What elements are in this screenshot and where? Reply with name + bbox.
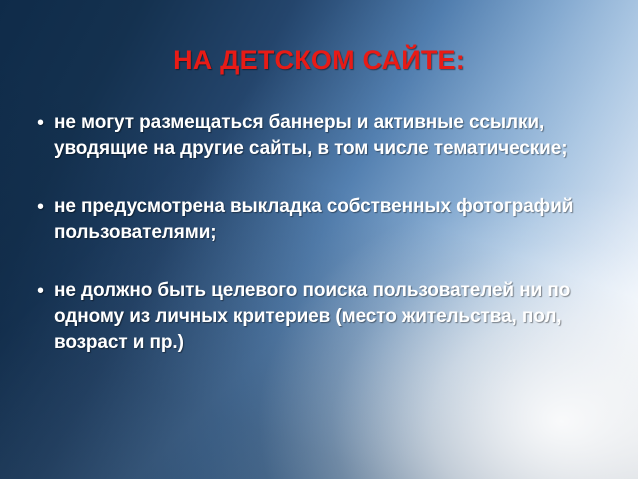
bullet-point-icon: •	[32, 110, 54, 136]
presentation-slide: НА ДЕТСКОМ САЙТЕ: • не могут размещаться…	[0, 0, 638, 479]
slide-title: НА ДЕТСКОМ САЙТЕ:	[0, 45, 638, 76]
list-item: • не могут размещаться баннеры и активны…	[32, 110, 607, 162]
bullet-item-text: не могут размещаться баннеры и активные …	[54, 110, 607, 162]
slide-content: НА ДЕТСКОМ САЙТЕ: • не могут размещаться…	[0, 0, 638, 479]
bullet-point-icon: •	[32, 194, 54, 220]
bullet-list: • не могут размещаться баннеры и активны…	[32, 110, 607, 356]
list-item: • не предусмотрена выкладка собственных …	[32, 194, 607, 246]
list-item: • не должно быть целевого поиска пользов…	[32, 278, 607, 356]
bullet-item-text: не должно быть целевого поиска пользоват…	[54, 278, 607, 356]
bullet-item-text: не предусмотрена выкладка собственных фо…	[54, 194, 607, 246]
bullet-point-icon: •	[32, 278, 54, 304]
